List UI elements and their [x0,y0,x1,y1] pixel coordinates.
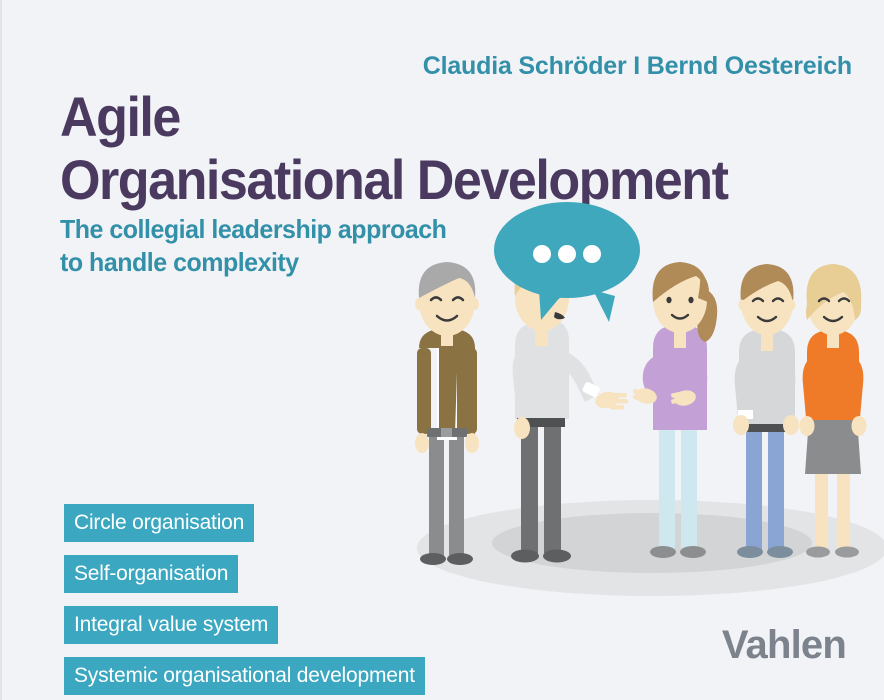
keyword-tag-integral-value-system: Integral value system [64,606,278,644]
keyword-tag-systemic-organisational-development: Systemic organisational development [64,657,425,695]
ground-inner-ellipse [492,513,812,573]
group-of-people-illustration [397,200,884,600]
title-line-1: Agile [60,88,795,145]
book-cover: Claudia Schröder I Bernd Oestereich Agil… [0,0,884,700]
publisher-logo: Vahlen [722,623,846,668]
speech-bubble-dot-3 [583,245,601,263]
speech-bubble-dot-2 [558,245,576,263]
keyword-tag-self-organisation: Self-organisation [64,555,238,593]
authors-line: Claudia Schröder I Bernd Oestereich [423,52,852,81]
gesturing-hand [594,390,628,411]
speech-bubble-dot-1 [533,245,551,263]
page-title: Agile Organisational Development [60,88,850,208]
keyword-tag-list: Circle organisation Self-organisation In… [64,504,425,700]
keyword-tag-circle-organisation: Circle organisation [64,504,254,542]
